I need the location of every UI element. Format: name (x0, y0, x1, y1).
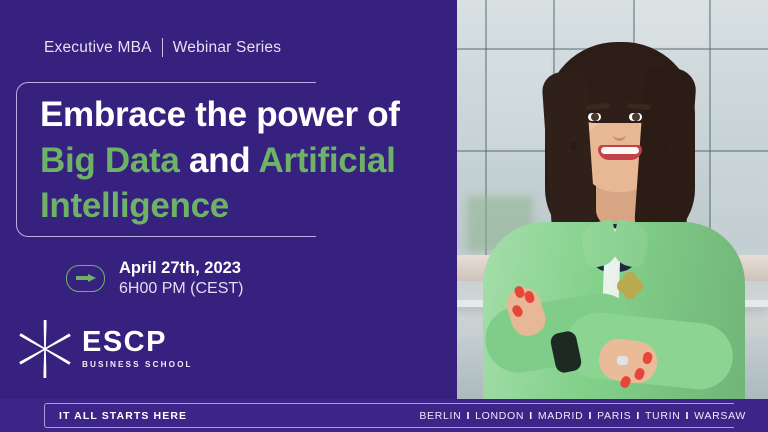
page-title: Embrace the power of Big Data and Artifi… (40, 92, 452, 229)
arrow-right-icon (66, 265, 105, 292)
logo-name: ESCP (82, 328, 193, 357)
content-panel: Executive MBA Webinar Series Embrace the… (0, 0, 457, 432)
city-turin: TURIN (645, 410, 681, 422)
logo-tagline: BUSINESS SCHOOL (82, 361, 193, 369)
headline-and: and (180, 141, 259, 180)
eyebrow-label: Executive MBA Webinar Series (44, 38, 281, 57)
headline-line-1: Embrace the power of (40, 95, 400, 134)
eyebrow-right-text: Webinar Series (173, 39, 281, 57)
city-madrid: MADRID (538, 410, 584, 422)
city-separator: I (529, 410, 533, 422)
event-date: April 27th, 2023 (119, 258, 243, 279)
speaker-photo (457, 0, 768, 405)
campus-city-list: BERLINILONDONIMADRIDIPARISITURINIWARSAW (419, 403, 746, 428)
escp-star-icon (18, 320, 72, 378)
eyebrow-left-text: Executive MBA (44, 39, 152, 57)
city-london: LONDON (475, 410, 524, 422)
person-illustration (457, 0, 768, 405)
city-berlin: BERLIN (419, 410, 461, 422)
city-separator: I (466, 410, 470, 422)
headline-big-data: Big Data (40, 141, 180, 180)
city-warsaw: WARSAW (694, 410, 746, 422)
city-separator: I (588, 410, 592, 422)
city-separator: I (686, 410, 690, 422)
footer-bar: IT ALL STARTS HERE BERLINILONDONIMADRIDI… (0, 399, 768, 432)
eyebrow-divider (162, 38, 163, 57)
flower-brooch-icon (617, 272, 643, 298)
promo-banner: Executive MBA Webinar Series Embrace the… (0, 0, 768, 432)
city-paris: PARIS (597, 410, 631, 422)
headline-intelligence: Intelligence (40, 186, 229, 225)
footer-tagline: IT ALL STARTS HERE (59, 410, 187, 422)
city-separator: I (636, 410, 640, 422)
event-datetime: April 27th, 2023 6H00 PM (CEST) (66, 258, 243, 299)
escp-logo: ESCP BUSINESS SCHOOL (18, 320, 193, 378)
headline-artificial: Artificial (258, 141, 395, 180)
event-time: 6H00 PM (CEST) (119, 279, 243, 299)
